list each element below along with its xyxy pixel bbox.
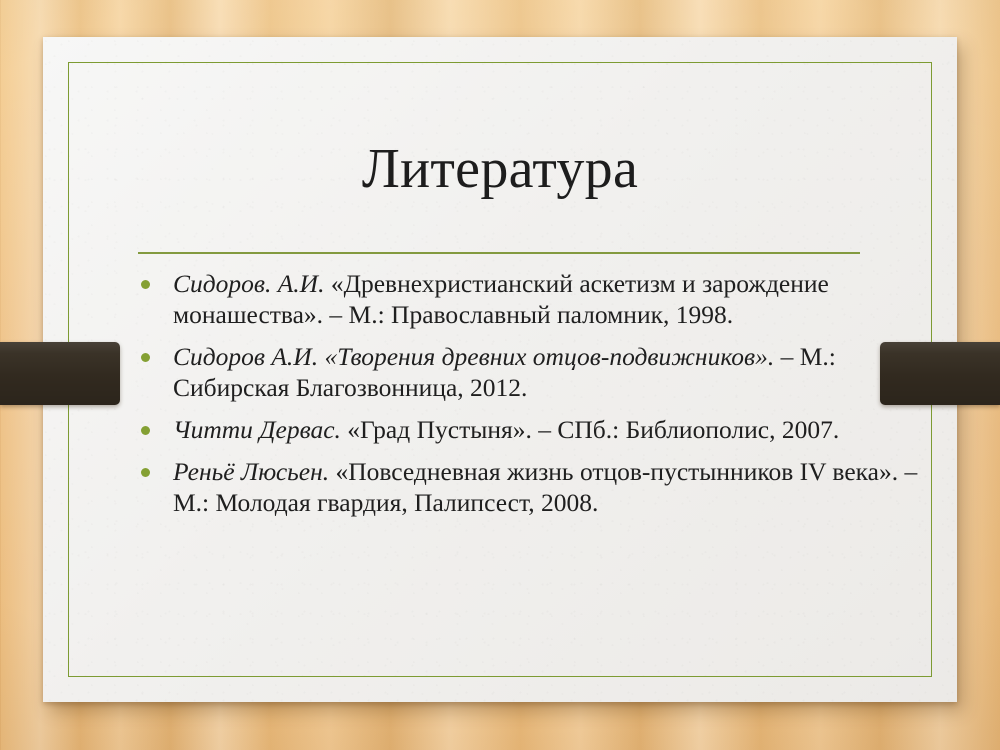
- reference-author: Реньё Люсьен.: [173, 457, 329, 486]
- bullet-dot-icon: [141, 353, 150, 362]
- list-item: Читти Дервас. «Град Пустыня». – СПб.: Би…: [131, 415, 921, 446]
- bullet-dot-icon: [141, 280, 150, 289]
- bibliography-list: Сидоров. А.И. «Древнехристианский аскети…: [131, 269, 921, 530]
- reference-details: «Град Пустыня». – СПб.: Библиополис, 200…: [341, 415, 839, 444]
- list-item: Сидоров А.И. «Творения древних отцов-под…: [131, 342, 921, 404]
- bullet-dot-icon: [141, 426, 150, 435]
- slide-title: Литература: [43, 140, 957, 199]
- decorative-strap-left: [0, 342, 120, 405]
- title-divider-rule: [138, 252, 860, 254]
- reference-author: Сидоров. А.И.: [173, 269, 324, 298]
- bullet-dot-icon: [141, 468, 150, 477]
- reference-author: Читти Дервас.: [173, 415, 341, 444]
- reference-author: Сидоров А.И. «Творения древних отцов-под…: [173, 342, 774, 371]
- list-item: Сидоров. А.И. «Древнехристианский аскети…: [131, 269, 921, 331]
- list-item: Реньё Люсьен. «Повседневная жизнь отцов-…: [131, 457, 921, 519]
